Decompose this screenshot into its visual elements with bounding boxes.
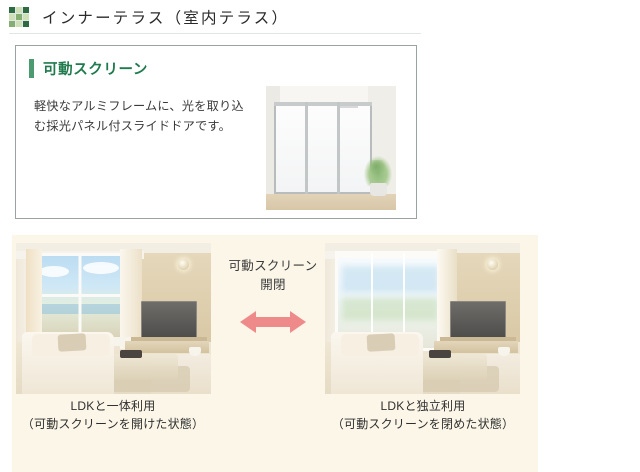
screen-door-handle [340,106,358,108]
room-photo-screen-open [16,243,211,394]
coffee-table [104,354,178,380]
center-annotation: 可動スクリーン 開閉 [219,257,327,335]
comparison-panel: 可動スクリーン 開閉 LDKと一体利用 （可動スクリーンを開けた状態） LDKと… [12,235,538,472]
grid-squares-icon [9,7,29,27]
wall-light-icon [178,259,189,270]
coffee-table [413,354,487,380]
diffused-sky [342,266,438,292]
cup [498,347,510,356]
cushion [58,333,87,351]
caption-left: LDKと一体利用 （可動スクリーンを開けた状態） [8,397,218,433]
center-label-line2: 開閉 [219,276,327,295]
cushion [367,333,396,351]
diffused-greenery [342,298,438,320]
product-photo-movable-screen [266,86,396,210]
center-label-line1: 可動スクリーン [219,257,327,276]
heading-accent-bar [29,59,34,78]
bay-window-open [28,253,132,341]
tabletop-object [429,350,451,358]
curtain-right [120,249,142,349]
double-arrow-left-right-icon [240,309,306,335]
card-description: 軽快なアルミフレームに、光を取り込む採光パネル付スライドドアです。 [34,96,246,136]
screen-door-mullion-2 [337,102,340,194]
screen-door-frame [274,102,372,194]
cloud [39,266,69,277]
card-heading-label: 可動スクリーン [43,58,148,79]
screen-door-mullion-1 [305,102,308,194]
television [450,301,506,339]
card-heading: 可動スクリーン [29,58,148,79]
sofa [22,332,114,394]
arrow-wrap [219,309,327,335]
curtain-left [26,249,42,345]
caption-right-line2: （可動スクリーンを閉めた状態） [318,415,528,433]
caption-left-line2: （可動スクリーンを開けた状態） [8,415,218,433]
window-mullion-vertical [79,256,82,338]
television [141,301,197,339]
cloud [83,262,119,274]
caption-left-line1: LDKと一体利用 [8,397,218,415]
window-mullion-horizontal [31,294,129,297]
wall-light-icon [487,259,498,270]
plant-leaves [364,156,392,186]
page-header: インナーテラス（室内テラス） [0,0,640,40]
photo-floor [266,194,396,210]
cup [189,347,201,356]
info-card: 可動スクリーン 軽快なアルミフレームに、光を取り込む採光パネル付スライドドアです… [15,45,417,219]
header-inner: インナーテラス（室内テラス） [0,0,640,33]
plant-pot [370,183,387,196]
caption-right-line1: LDKと独立利用 [318,397,528,415]
screen-top-rail [338,254,440,258]
header-divider [9,33,421,34]
tabletop-object [120,350,142,358]
page-title: インナーテラス（室内テラス） [42,6,289,28]
sofa [331,332,423,394]
room-photo-screen-closed [325,243,520,394]
caption-right: LDKと独立利用 （可動スクリーンを閉めた状態） [318,397,528,433]
